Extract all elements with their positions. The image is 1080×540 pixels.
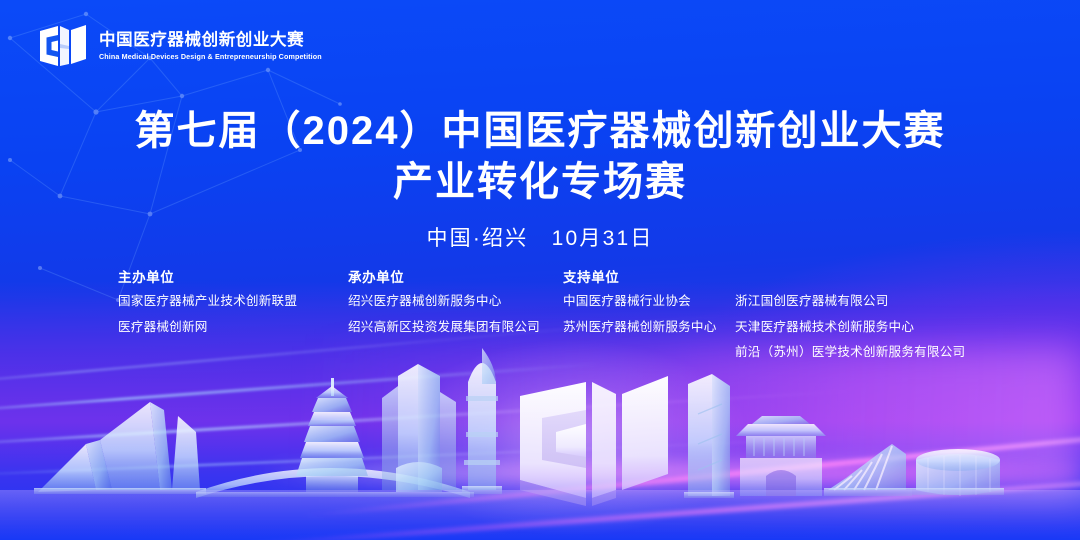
organizer-item: 国家医疗器械产业技术创新联盟 (118, 295, 348, 308)
organizer-item: 天津医疗器械技术创新服务中心 (735, 321, 965, 334)
organizer-heading: 主办单位 (118, 266, 348, 286)
organizer-item: 前沿（苏州）医学技术创新服务有限公司 (735, 346, 965, 359)
twin-skyscraper (382, 364, 456, 492)
event-title-line1: 第七届（2024）中国医疗器械创新创业大赛 (0, 106, 1080, 157)
competition-door-logo-icon (38, 24, 88, 68)
organizer-item: 绍兴医疗器械创新服务中心 (348, 295, 563, 308)
stepped-terrace-building (824, 444, 912, 496)
traditional-gate-tower (736, 416, 826, 496)
event-place-date: 中国·绍兴 10月31日 (0, 222, 1080, 252)
organizer-item: 苏州医疗器械创新服务中心 (563, 321, 735, 334)
organizer-column-host: 主办单位 国家医疗器械产业技术创新联盟 医疗器械创新网 (118, 266, 348, 333)
brand-name-cn: 中国医疗器械创新创业大赛 (99, 32, 329, 49)
organizer-item: 中国医疗器械行业协会 (563, 295, 735, 308)
pagoda-tower (296, 378, 368, 492)
competition-logo-monument (520, 376, 668, 506)
glass-tower (684, 374, 734, 498)
title-block: 第七届（2024）中国医疗器械创新创业大赛 产业转化专场赛 中国·绍兴 10月3… (0, 106, 1080, 252)
organizer-column-undertaker: 承办单位 绍兴医疗器械创新服务中心 绍兴高新区投资发展集团有限公司 (348, 266, 563, 333)
rocket-tower (462, 348, 502, 494)
organizer-heading: 承办单位 (348, 266, 563, 286)
brand-header: 中国医疗器械创新创业大赛 China Medical Devices Desig… (38, 24, 329, 68)
cylindrical-stadium (912, 449, 1004, 496)
organizer-item: 绍兴高新区投资发展集团有限公司 (348, 321, 563, 334)
event-title-line2: 产业转化专场赛 (0, 157, 1080, 208)
city-skyline-illustration (0, 340, 1080, 540)
organizer-block: 主办单位 国家医疗器械产业技术创新联盟 医疗器械创新网 承办单位 绍兴医疗器械创… (118, 266, 1020, 359)
organizer-item: 浙江国创医疗器械有限公司 (735, 295, 965, 308)
organizer-column-support: 支持单位 中国医疗器械行业协会 苏州医疗器械创新服务中心 支持单位 浙江国创医疗… (563, 266, 965, 359)
brand-name-en: China Medical Devices Design & Entrepren… (99, 53, 322, 60)
sail-pavilion (34, 402, 206, 494)
organizer-heading: 支持单位 (563, 266, 735, 286)
organizer-support-group-2: 支持单位 浙江国创医疗器械有限公司 天津医疗器械技术创新服务中心 前沿（苏州）医… (735, 266, 965, 359)
organizer-item: 医疗器械创新网 (118, 321, 348, 334)
organizer-support-group-1: 支持单位 中国医疗器械行业协会 苏州医疗器械创新服务中心 (563, 266, 735, 359)
event-banner: 中国医疗器械创新创业大赛 China Medical Devices Desig… (0, 0, 1080, 540)
